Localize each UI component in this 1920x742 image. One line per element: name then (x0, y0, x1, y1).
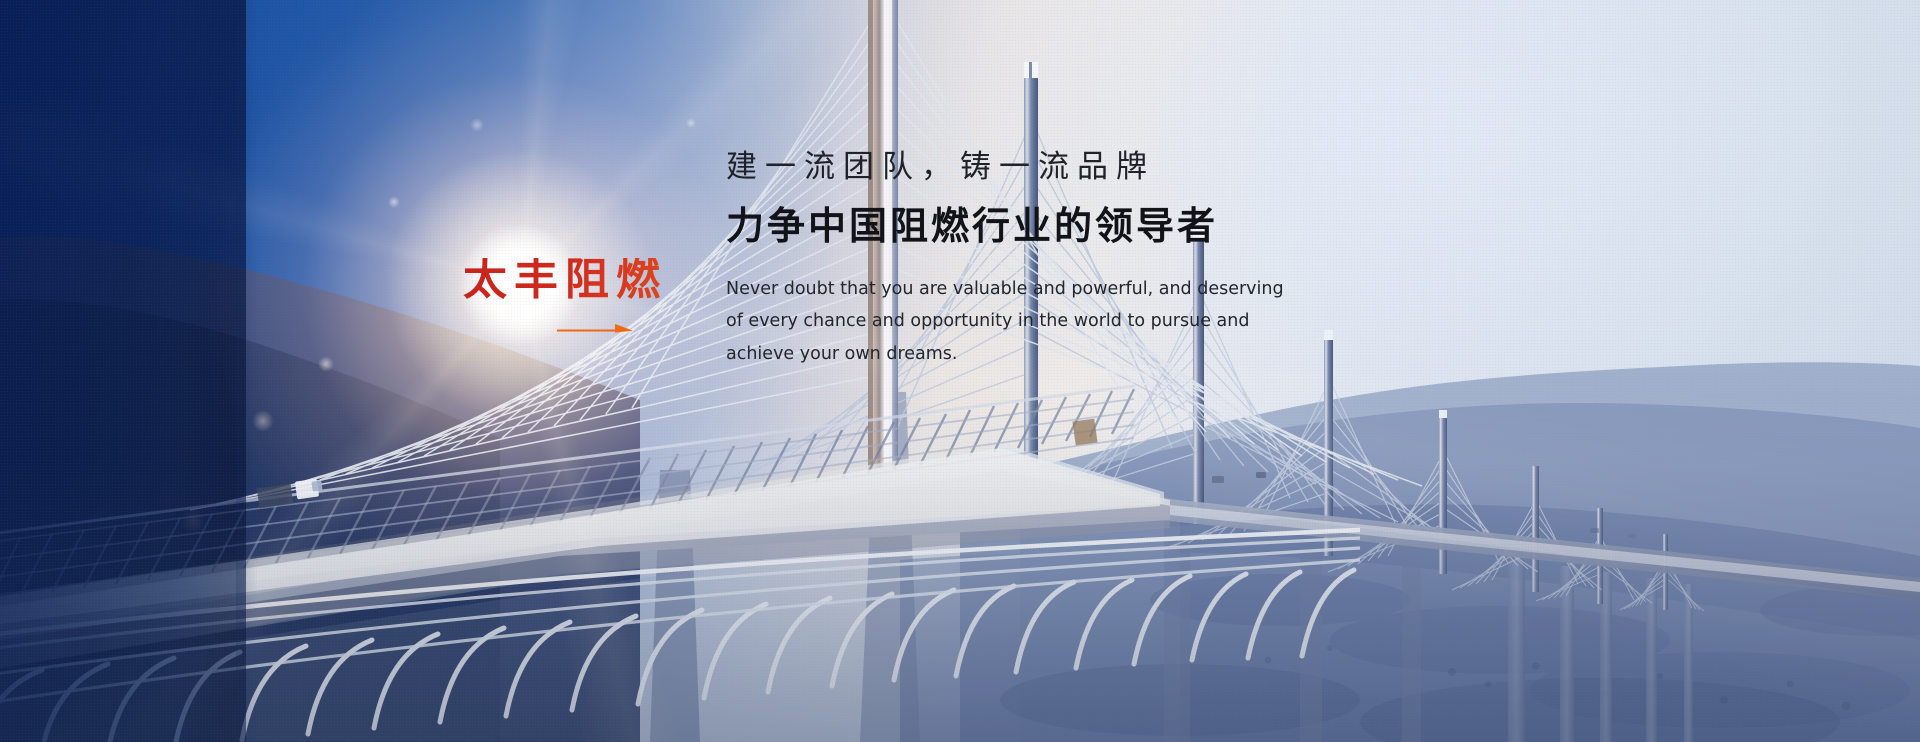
description-line-2: of every chance and opportunity in the w… (726, 305, 1306, 337)
brand-logo[interactable]: 太丰阻燃 (463, 258, 713, 354)
banner-tagline: 建一流团队，铸一流品牌 (726, 148, 1506, 187)
right-arrow-icon (557, 322, 633, 336)
description-line-3: achieve your own dreams. (726, 338, 1306, 370)
hero-banner: 太丰阻燃 建一流团队，铸一流品牌 力争中国阻燃行业的领导者 Never doub… (0, 0, 1920, 742)
banner-description: Never doubt that you are valuable and po… (726, 273, 1306, 370)
brand-logo-text: 太丰阻燃 (463, 258, 713, 302)
banner-copy: 建一流团队，铸一流品牌 力争中国阻燃行业的领导者 Never doubt tha… (726, 148, 1506, 370)
banner-headline: 力争中国阻燃行业的领导者 (726, 203, 1506, 249)
halftone-texture-overlay (0, 0, 1920, 742)
description-line-1: Never doubt that you are valuable and po… (726, 273, 1306, 305)
